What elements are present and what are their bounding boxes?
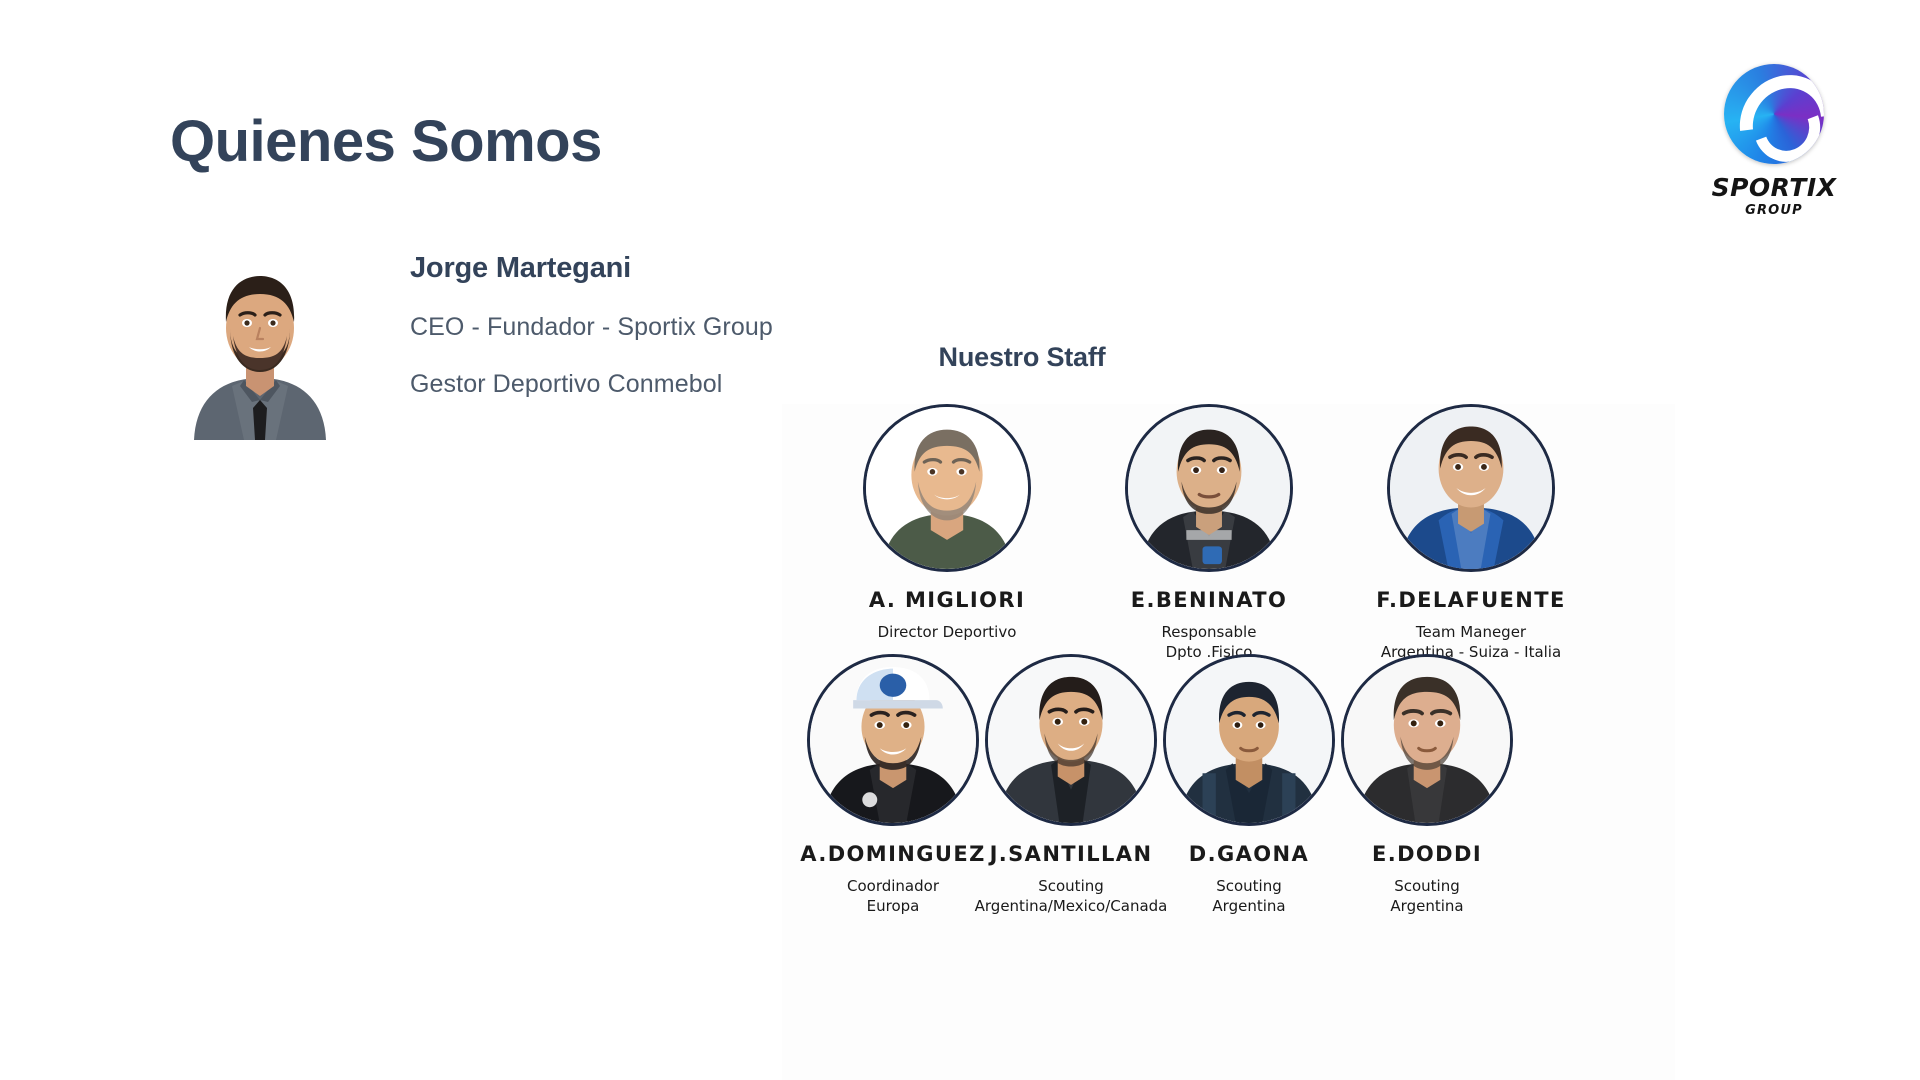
brand-sub-wordmark: GROUP xyxy=(1745,203,1803,218)
staff-name: F.DELAFUENTE xyxy=(1376,588,1565,612)
staff-role: Coordinador Europa xyxy=(847,876,939,917)
staff-row-1: A. MIGLIORI Director Deportivo xyxy=(782,404,1675,663)
staff-portrait-gaona xyxy=(1163,654,1335,826)
staff-name: A. MIGLIORI xyxy=(869,588,1025,612)
staff-role-line: Argentina/Mexico/Canada xyxy=(975,896,1168,916)
staff-name: E.BENINATO xyxy=(1131,588,1287,612)
staff-portrait-doddi xyxy=(1341,654,1513,826)
staff-portrait-santillan xyxy=(985,654,1157,826)
ceo-info: Jorge Martegani CEO - Fundador - Sportix… xyxy=(410,252,1030,399)
staff-role: Director Deportivo xyxy=(878,622,1017,642)
staff-role: Scouting Argentina/Mexico/Canada xyxy=(975,876,1168,917)
ceo-name: Jorge Martegani xyxy=(410,252,1030,285)
staff-card-santillan[interactable]: J.SANTILLAN Scouting Argentina/Mexico/Ca… xyxy=(982,654,1160,917)
staff-card-dominguez[interactable]: A.DOMINGUEZ Coordinador Europa xyxy=(804,654,982,917)
staff-portrait-delafuente xyxy=(1387,404,1555,572)
ceo-role-line-2: Gestor Deportivo Conmebol xyxy=(410,370,1030,399)
staff-heading-text: Nuestro Staff xyxy=(939,342,1106,373)
brand-wordmark: SPORTIX xyxy=(1712,173,1837,202)
page-title: Quienes Somos xyxy=(170,112,602,173)
staff-name: E.DODDI xyxy=(1372,842,1482,866)
staff-card-beninato[interactable]: E.BENINATO Responsable Dpto .Fisico xyxy=(1078,404,1340,663)
staff-row-2: A.DOMINGUEZ Coordinador Europa xyxy=(782,654,1675,917)
staff-portrait-migliori xyxy=(863,404,1031,572)
staff-name: D.GAONA xyxy=(1189,842,1309,866)
staff-role-line: Argentina xyxy=(1212,896,1285,916)
staff-name: A.DOMINGUEZ xyxy=(800,842,985,866)
staff-role-line: Scouting xyxy=(1390,876,1463,896)
staff-role-line: Responsable xyxy=(1162,622,1257,642)
staff-portrait-beninato xyxy=(1125,404,1293,572)
staff-role-line: Team Maneger xyxy=(1381,622,1561,642)
staff-card-delafuente[interactable]: F.DELAFUENTE Team Maneger Argentina - Su… xyxy=(1340,404,1602,663)
staff-role: Scouting Argentina xyxy=(1212,876,1285,917)
staff-portrait-dominguez xyxy=(807,654,979,826)
staff-role-line: Argentina xyxy=(1390,896,1463,916)
sportix-swirl-icon xyxy=(1724,64,1824,164)
staff-role-line: Coordinador xyxy=(847,876,939,896)
staff-role-line: Europa xyxy=(847,896,939,916)
staff-card-gaona[interactable]: D.GAONA Scouting Argentina xyxy=(1160,654,1338,917)
staff-role-line: Scouting xyxy=(1212,876,1285,896)
ceo-role-line-1: CEO - Fundador - Sportix Group xyxy=(410,313,1030,342)
staff-panel: A. MIGLIORI Director Deportivo xyxy=(782,404,1675,1080)
slide-root: Quienes Somos SPORTIX GROUP xyxy=(0,0,1920,1080)
brand-logo: SPORTIX GROUP xyxy=(1714,64,1834,218)
staff-card-doddi[interactable]: E.DODDI Scouting Argentina xyxy=(1338,654,1516,917)
staff-card-migliori[interactable]: A. MIGLIORI Director Deportivo xyxy=(816,404,1078,663)
staff-name: J.SANTILLAN xyxy=(990,842,1153,866)
staff-heading: Nuestro Staff xyxy=(0,342,1920,373)
staff-role: Scouting Argentina xyxy=(1390,876,1463,917)
staff-role-line: Scouting xyxy=(975,876,1168,896)
